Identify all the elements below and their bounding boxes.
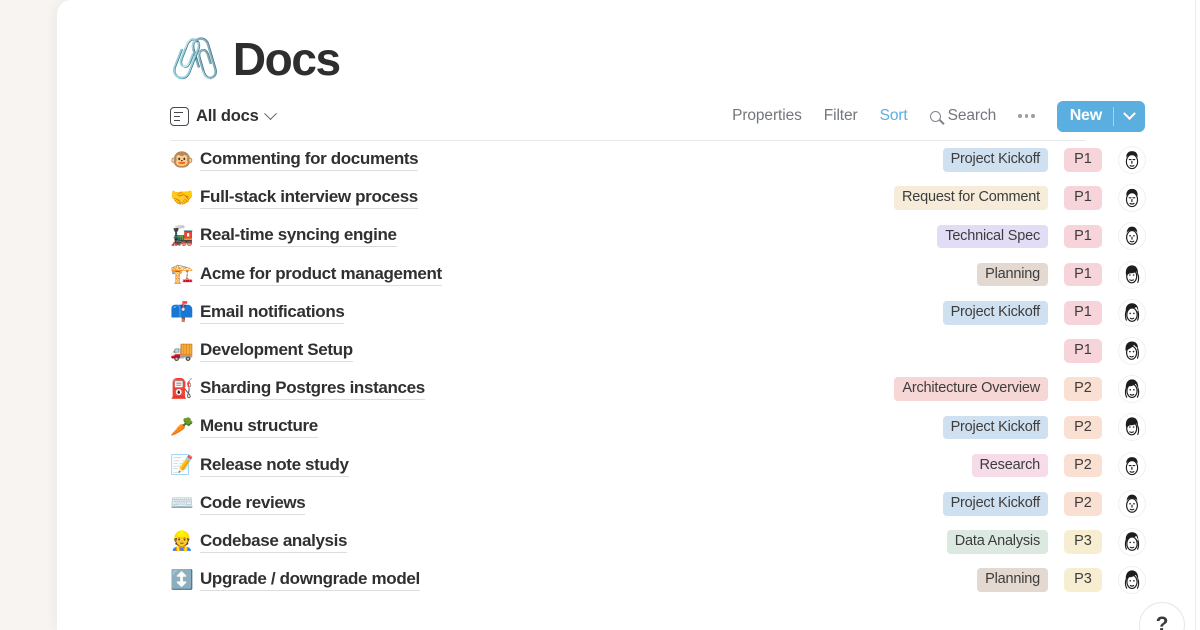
doc-tag[interactable]: Technical Spec — [937, 225, 1048, 249]
main-panel: 🖇️ Docs All docs Properties Filter Sort … — [57, 0, 1200, 630]
doc-title-link[interactable]: Upgrade / downgrade model — [200, 569, 420, 591]
priority-badge[interactable]: P3 — [1064, 568, 1102, 592]
panel-right-edge — [1195, 0, 1196, 630]
doc-title-link[interactable]: Codebase analysis — [200, 531, 347, 553]
doc-title-link[interactable]: Menu structure — [200, 416, 318, 438]
avatar[interactable] — [1119, 567, 1145, 593]
view-selector-all-docs[interactable]: All docs — [170, 107, 275, 126]
avatar[interactable] — [1119, 147, 1145, 173]
sort-button[interactable]: Sort — [880, 107, 908, 125]
toolbar-actions: Properties Filter Sort Search New — [732, 101, 1145, 132]
table-row[interactable]: 🐵Commenting for documentsProject Kickoff… — [170, 141, 1145, 179]
avatar[interactable] — [1119, 414, 1145, 440]
doc-title-link[interactable]: Commenting for documents — [200, 149, 418, 171]
document-list-icon — [170, 107, 189, 126]
priority-badge[interactable]: P2 — [1064, 377, 1102, 401]
avatar[interactable] — [1119, 338, 1145, 364]
search-icon — [930, 111, 941, 122]
priority-badge[interactable]: P2 — [1064, 492, 1102, 516]
memo-icon: 📝 — [170, 456, 200, 475]
doc-tag[interactable]: Planning — [977, 568, 1048, 592]
table-row[interactable]: ↕️Upgrade / downgrade modelPlanningP3 — [170, 561, 1145, 599]
priority-badge[interactable]: P1 — [1064, 225, 1102, 249]
fuel-pump-icon: ⛽ — [170, 380, 200, 399]
doc-tag[interactable]: Project Kickoff — [943, 416, 1048, 440]
table-row[interactable]: ⛽Sharding Postgres instancesArchitecture… — [170, 370, 1145, 408]
priority-badge[interactable]: P1 — [1064, 301, 1102, 325]
doc-tag[interactable]: Request for Comment — [894, 186, 1048, 210]
priority-badge[interactable]: P1 — [1064, 186, 1102, 210]
priority-badge[interactable]: P2 — [1064, 454, 1102, 478]
keyboard-icon: ⌨️ — [170, 494, 200, 513]
new-button-label: New — [1057, 107, 1113, 125]
avatar[interactable] — [1119, 300, 1145, 326]
table-row[interactable]: 👷Codebase analysisData AnalysisP3 — [170, 523, 1145, 561]
table-row[interactable]: 📝Release note studyResearchP2 — [170, 447, 1145, 485]
carrot-icon: 🥕 — [170, 418, 200, 437]
content-column: 🖇️ Docs All docs Properties Filter Sort … — [170, 0, 1145, 599]
filter-button[interactable]: Filter — [824, 107, 858, 125]
properties-button[interactable]: Properties — [732, 107, 802, 125]
mailbox-icon: 📫 — [170, 303, 200, 322]
doc-title-link[interactable]: Full-stack interview process — [200, 187, 418, 209]
avatar[interactable] — [1119, 453, 1145, 479]
doc-title-link[interactable]: Sharding Postgres instances — [200, 378, 425, 400]
page-title: Docs — [233, 32, 340, 86]
chevron-down-icon — [264, 107, 277, 120]
table-row[interactable]: 📫Email notificationsProject KickoffP1 — [170, 294, 1145, 332]
doc-title-link[interactable]: Code reviews — [200, 493, 305, 515]
monkey-face-icon: 🐵 — [170, 151, 200, 170]
doc-tag[interactable]: Project Kickoff — [943, 301, 1048, 325]
construction-crane-icon: 🏗️ — [170, 265, 200, 284]
priority-badge[interactable]: P3 — [1064, 530, 1102, 554]
table-row[interactable]: 🤝Full-stack interview processRequest for… — [170, 179, 1145, 217]
app-screen: 🖇️ Docs All docs Properties Filter Sort … — [0, 0, 1200, 630]
priority-badge[interactable]: P1 — [1064, 148, 1102, 172]
up-down-arrow-icon: ↕️ — [170, 571, 200, 590]
priority-badge[interactable]: P2 — [1064, 416, 1102, 440]
search-label: Search — [948, 107, 997, 125]
new-button[interactable]: New — [1057, 101, 1145, 132]
chevron-down-icon — [1123, 107, 1136, 120]
doc-title-link[interactable]: Release note study — [200, 455, 349, 477]
doc-tag[interactable]: Project Kickoff — [943, 148, 1048, 172]
avatar[interactable] — [1119, 223, 1145, 249]
handshake-icon: 🤝 — [170, 189, 200, 208]
priority-badge[interactable]: P1 — [1064, 339, 1102, 363]
table-row[interactable]: ⌨️Code reviewsProject KickoffP2 — [170, 485, 1145, 523]
doc-tag[interactable]: Architecture Overview — [894, 377, 1048, 401]
doc-title-link[interactable]: Email notifications — [200, 302, 344, 324]
doc-title-link[interactable]: Development Setup — [200, 340, 353, 362]
avatar[interactable] — [1119, 529, 1145, 555]
table-row[interactable]: 🥕Menu structureProject KickoffP2 — [170, 408, 1145, 446]
avatar[interactable] — [1119, 376, 1145, 402]
locomotive-icon: 🚂 — [170, 227, 200, 246]
doc-tag[interactable]: Project Kickoff — [943, 492, 1048, 516]
table-row[interactable]: 🚂Real-time syncing engineTechnical SpecP… — [170, 217, 1145, 255]
doc-title-link[interactable]: Real-time syncing engine — [200, 225, 397, 247]
help-button[interactable]: ? — [1139, 602, 1185, 630]
construction-worker-icon: 👷 — [170, 532, 200, 551]
search-button[interactable]: Search — [930, 107, 997, 125]
doc-title-link[interactable]: Acme for product management — [200, 264, 442, 286]
page-header: 🖇️ Docs — [170, 0, 1145, 76]
ellipsis-icon[interactable] — [1018, 108, 1035, 123]
new-button-dropdown[interactable] — [1114, 112, 1145, 121]
doc-tag[interactable]: Data Analysis — [947, 530, 1048, 554]
doc-tag[interactable]: Research — [972, 454, 1048, 478]
view-selector-label: All docs — [196, 107, 259, 126]
priority-badge[interactable]: P1 — [1064, 263, 1102, 287]
doc-tag[interactable]: Planning — [977, 263, 1048, 287]
avatar[interactable] — [1119, 185, 1145, 211]
table-row[interactable]: 🏗️Acme for product managementPlanningP1 — [170, 256, 1145, 294]
avatar[interactable] — [1119, 491, 1145, 517]
delivery-truck-icon: 🚚 — [170, 342, 200, 361]
paperclip-icon: 🖇️ — [170, 39, 220, 79]
view-toolbar: All docs Properties Filter Sort Search N… — [170, 92, 1145, 140]
table-row[interactable]: 🚚Development SetupP1 — [170, 332, 1145, 370]
document-list: 🐵Commenting for documentsProject Kickoff… — [170, 141, 1145, 599]
avatar[interactable] — [1119, 262, 1145, 288]
